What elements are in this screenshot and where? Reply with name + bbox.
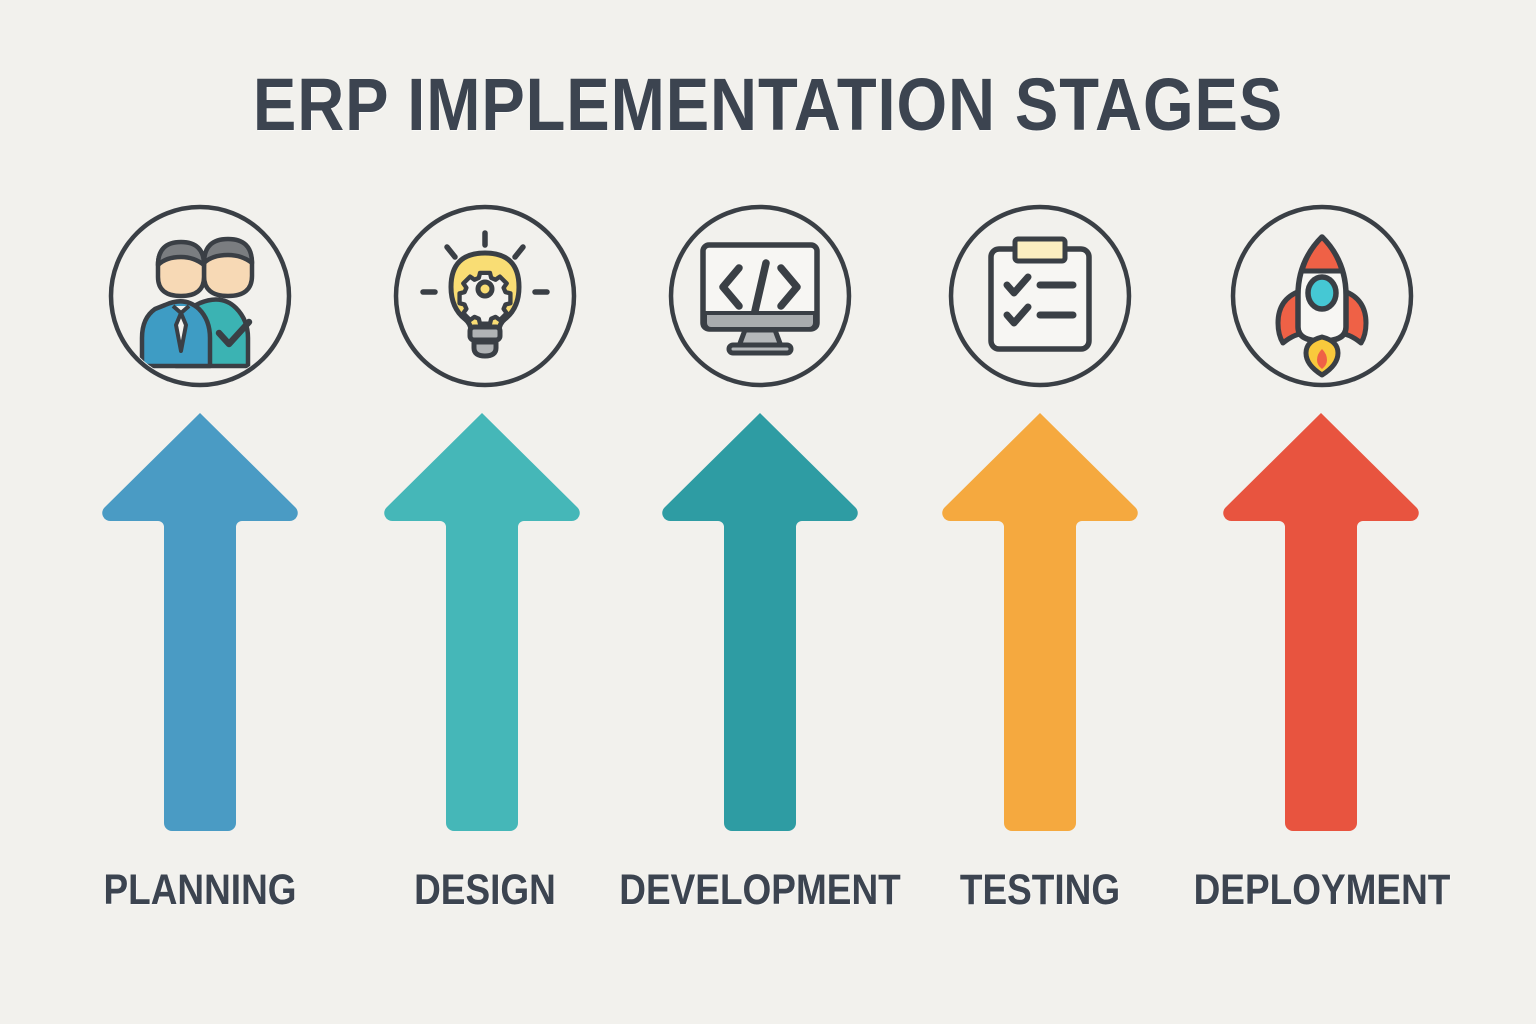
lightbulb-gear-icon	[392, 203, 578, 389]
stage-label-development: DEVELOPMENT	[614, 866, 906, 915]
code-monitor-icon	[667, 203, 853, 389]
page-title: ERP IMPLEMENTATION STAGES	[92, 62, 1444, 147]
stage-label-planning: PLANNING	[54, 866, 346, 915]
clipboard-checklist-icon	[947, 203, 1133, 389]
arrow-design	[382, 408, 582, 836]
arrow-planning	[100, 408, 300, 836]
rocket-icon	[1229, 203, 1415, 389]
stage-label-deployment: DEPLOYMENT	[1176, 866, 1468, 915]
arrow-testing	[940, 408, 1140, 836]
arrow-development	[660, 408, 860, 836]
two-people-icon	[107, 203, 293, 389]
arrow-deployment	[1221, 408, 1421, 836]
stage-label-design: DESIGN	[339, 866, 631, 915]
infographic-canvas: ERP IMPLEMENTATION STAGES	[0, 0, 1536, 1024]
stage-label-testing: TESTING	[894, 866, 1186, 915]
